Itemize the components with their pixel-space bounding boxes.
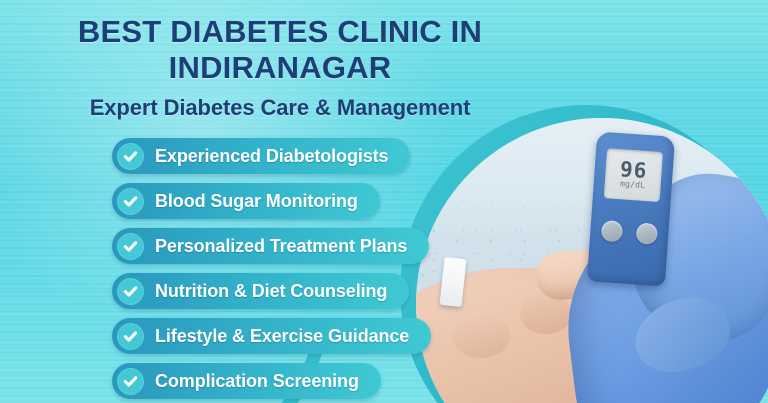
page-title: BEST DIABETES CLINIC IN INDIRANAGAR (0, 14, 560, 86)
feature-pill: Experienced Diabetologists (112, 138, 410, 174)
headline-line-1: BEST DIABETES CLINIC IN (78, 14, 482, 49)
feature-label: Blood Sugar Monitoring (155, 191, 358, 212)
check-circle-icon (117, 323, 144, 350)
check-circle-icon (117, 143, 144, 170)
headline-block: BEST DIABETES CLINIC IN INDIRANAGAR Expe… (0, 14, 560, 121)
glucometer-screen: 96 mg/dL (604, 148, 663, 202)
feature-pill: Complication Screening (112, 363, 381, 399)
feature-pill: Lifestyle & Exercise Guidance (112, 318, 431, 354)
diabetes-clinic-banner: 96 mg/dL BEST DIABETES CLINIC IN INDIRAN… (0, 0, 768, 403)
feature-pill: Personalized Treatment Plans (112, 228, 429, 264)
glucose-reading-value: 96 (619, 159, 648, 181)
glucometer-button-right (636, 222, 658, 244)
feature-label: Personalized Treatment Plans (155, 236, 407, 257)
patient-fingernail (452, 314, 510, 358)
feature-label: Experienced Diabetologists (155, 146, 388, 167)
feature-list: Experienced Diabetologists Blood Sugar M… (112, 138, 431, 399)
check-circle-icon (117, 368, 144, 395)
feature-pill: Nutrition & Diet Counseling (112, 273, 409, 309)
check-circle-icon (117, 233, 144, 260)
feature-pill: Blood Sugar Monitoring (112, 183, 380, 219)
page-subtitle: Expert Diabetes Care & Management (0, 95, 560, 121)
glucose-test-photo: 96 mg/dL (416, 118, 768, 403)
feature-label: Nutrition & Diet Counseling (155, 281, 387, 302)
patient-fingernail-secondary (520, 294, 572, 334)
glucometer-device: 96 mg/dL (587, 131, 675, 286)
check-circle-icon (117, 188, 144, 215)
glucometer-button-left (601, 220, 623, 242)
glucose-reading-unit: mg/dL (620, 179, 646, 191)
feature-label: Complication Screening (155, 371, 359, 392)
feature-label: Lifestyle & Exercise Guidance (155, 326, 409, 347)
check-circle-icon (117, 278, 144, 305)
headline-line-2: INDIRANAGAR (0, 50, 560, 86)
